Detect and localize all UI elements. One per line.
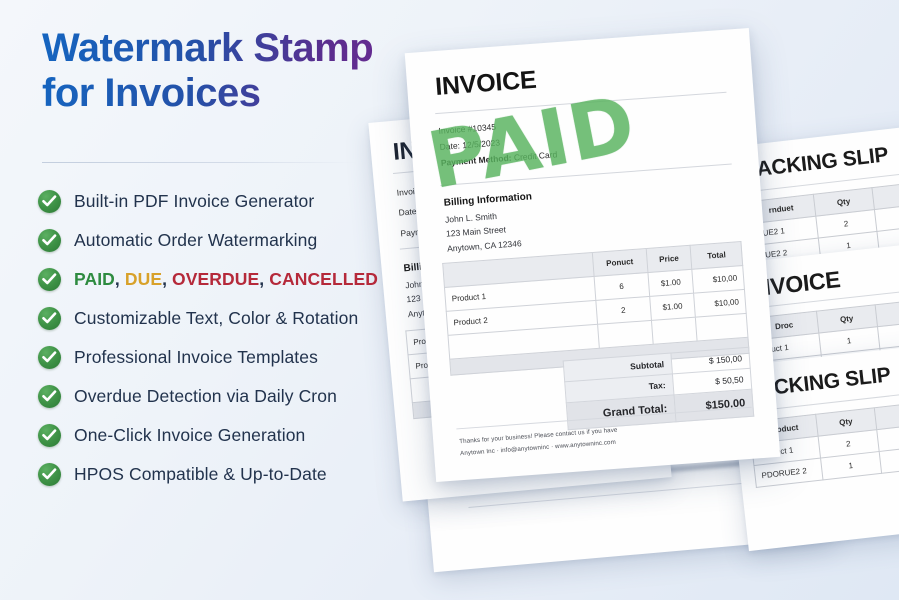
feature-item-7: One-Click Invoice Generation [38, 416, 388, 455]
feature-label: Customizable Text, Color & Rotation [74, 308, 358, 329]
feature-item-2: Automatic Order Watermarking [38, 221, 388, 260]
feature-label: Overdue Detection via Daily Cron [74, 386, 337, 407]
status-due: DUE [125, 269, 162, 289]
check-circle-icon [38, 268, 61, 291]
page-title-line-2: for Invoices [42, 71, 402, 116]
status-overdue: OVERDUE [172, 269, 259, 289]
feature-item-1: Built-in PDF Invoice Generator [38, 182, 388, 221]
cell-price: $1.00 [648, 269, 694, 296]
col-price: Price [646, 245, 692, 272]
document-stack: INVOICE Invoice #10 Date: 12/1 Payment M… [340, 0, 899, 600]
col-total: Total [872, 181, 899, 210]
status-paid: PAID [74, 269, 115, 289]
payment-method-value: Credit Card [514, 150, 558, 163]
feature-item-8: HPOS Compatible & Up-to-Date [38, 455, 388, 494]
feature-item-6: Overdue Detection via Daily Cron [38, 377, 388, 416]
feature-item-5: Professional Invoice Templates [38, 338, 388, 377]
feature-label: Professional Invoice Templates [74, 347, 318, 368]
check-circle-icon [38, 385, 61, 408]
payment-method-label: Payment Method: [440, 153, 511, 168]
feature-list: Built-in PDF Invoice Generator Automatic… [38, 182, 388, 494]
feature-label: HPOS Compatible & Up-to-Date [74, 464, 327, 485]
status-list: PAID, DUE, OVERDUE, CANCELLED [74, 269, 378, 290]
col-total: Total [874, 401, 899, 429]
cell-price: $1.00 [649, 293, 695, 320]
status-sep: , [162, 269, 172, 289]
title-divider [42, 162, 356, 163]
feature-label: One-Click Invoice Generation [74, 425, 305, 446]
main-invoice-document: INVOICE Invoice #10345 Date: 12/5/2023 P… [405, 28, 781, 482]
promo-banner: INVOICE Invoice #10 Date: 12/1 Payment M… [0, 0, 899, 600]
page-title-line-1: Watermark Stamp [42, 26, 373, 70]
invoice-meta: Invoice #10345 Date: 12/5/2023 Payment M… [438, 114, 558, 171]
feature-label: Built-in PDF Invoice Generator [74, 191, 314, 212]
check-circle-icon [38, 190, 61, 213]
feature-item-3-statuses: PAID, DUE, OVERDUE, CANCELLED [38, 260, 388, 299]
check-circle-icon [38, 463, 61, 486]
feature-label: Automatic Order Watermarking [74, 230, 317, 251]
grand-total-value: $150.00 [674, 389, 754, 422]
status-sep: , [259, 269, 269, 289]
hero-panel: Watermark Stamp for Invoices Built-in PD… [0, 0, 400, 600]
feature-item-4: Customizable Text, Color & Rotation [38, 299, 388, 338]
status-cancelled: CANCELLED [269, 269, 378, 289]
check-circle-icon [38, 307, 61, 330]
invoice-title: INVOICE [434, 66, 537, 102]
col-total: Total [875, 298, 899, 326]
check-circle-icon [38, 346, 61, 369]
check-circle-icon [38, 424, 61, 447]
check-circle-icon [38, 229, 61, 252]
status-sep: , [115, 269, 125, 289]
page-title: Watermark Stamp for Invoices [42, 26, 402, 116]
